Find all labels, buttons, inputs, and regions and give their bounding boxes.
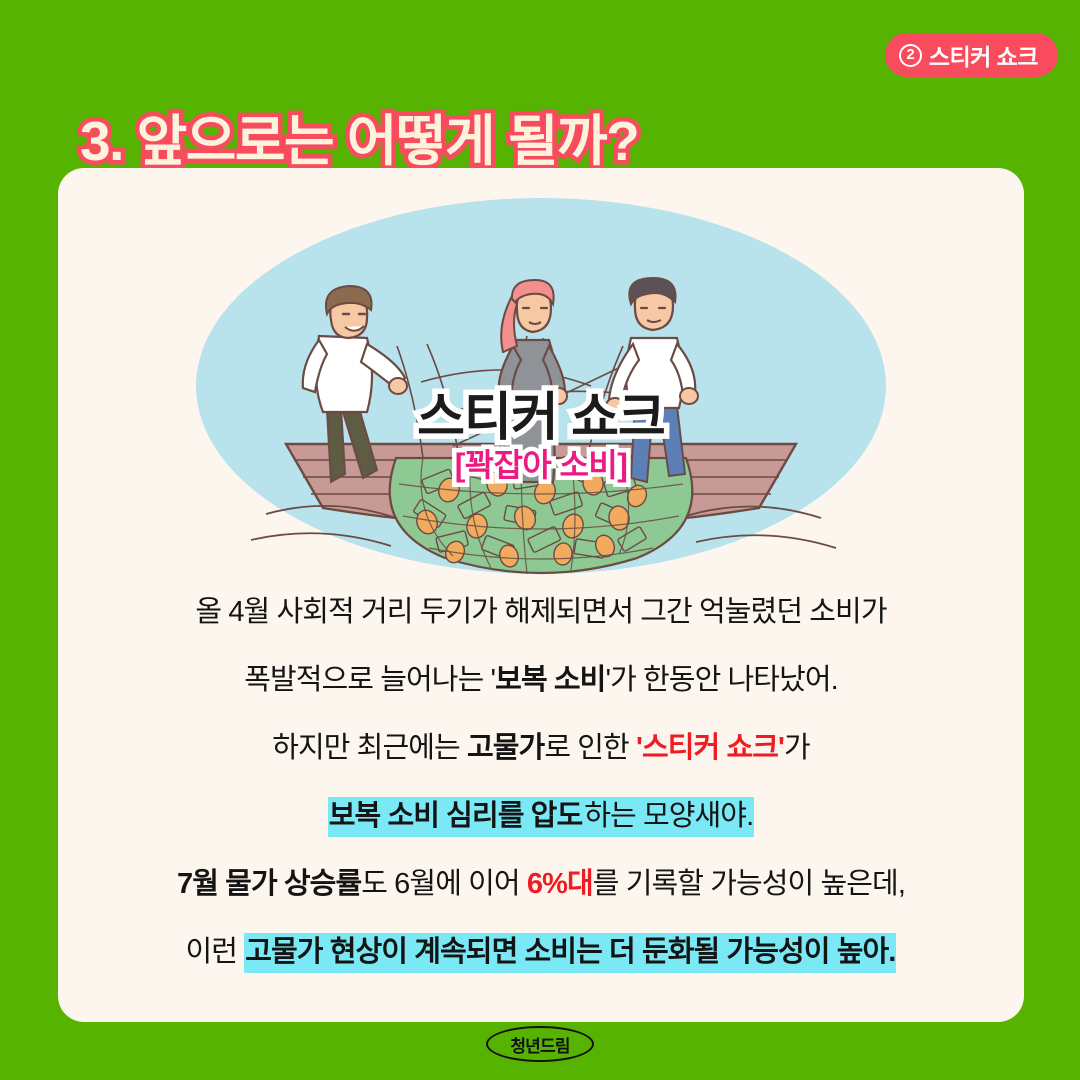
body-line-2: 폭발적으로 늘어나는 '보복 소비'가 한동안 나타났어. — [58, 666, 1024, 695]
body-line-6-emphasis: 고물가 현상이 계속되면 소비는 더 둔화될 가능성이 높아. — [244, 933, 896, 973]
body-line-2-seg-1: 폭발적으로 늘어나는 ' — [244, 664, 495, 696]
body-copy: 올 4월 사회적 거리 두기가 해제되면서 그간 억눌렸던 소비가 폭발적으로 … — [58, 598, 1024, 967]
body-line-3-keyword: '스티커 쇼크' — [636, 732, 784, 764]
infographic-card: 2 스티커 쇼크 3. 앞으로는 어떻게 될까? — [0, 0, 1080, 1080]
body-line-3: 하지만 최근에는 고물가로 인한 '스티커 쇼크'가 — [58, 734, 1024, 763]
footer-logo-text: 청년드림 — [510, 1032, 569, 1057]
illustration: 스티커 쇼크 [꽉잡아 소비] — [58, 196, 1024, 576]
body-line-1-text: 올 4월 사회적 거리 두기가 해제되면서 그간 억눌렸던 소비가 — [195, 596, 886, 628]
body-line-5-emphasis: 7월 물가 상승률 — [177, 868, 361, 900]
body-line-6-seg-1: 이런 — [186, 936, 245, 968]
body-line-4-emphasis: 보복 소비 심리를 압도 — [328, 797, 584, 837]
section-badge: 2 스티커 쇼크 — [885, 33, 1058, 77]
body-line-4: 보복 소비 심리를 압도하는 모양새야. — [58, 802, 1024, 831]
badge-number: 2 — [899, 44, 922, 67]
page-title: 3. 앞으로는 어떻게 될까? — [80, 96, 638, 176]
body-line-5: 7월 물가 상승률도 6월에 이어 6%대를 기록할 가능성이 높은데, — [58, 870, 1024, 899]
body-line-2-seg-3: '가 한동안 나타났어. — [605, 664, 837, 696]
body-line-3-emphasis: 고물가 — [467, 732, 544, 764]
body-line-1: 올 4월 사회적 거리 두기가 해제되면서 그간 억눌렸던 소비가 — [58, 598, 1024, 627]
body-line-5-figure: 6%대 — [527, 868, 593, 900]
badge-label: 스티커 쇼크 — [929, 38, 1038, 72]
body-line-3-seg-5: 가 — [784, 732, 810, 764]
body-line-6: 이런 고물가 현상이 계속되면 소비는 더 둔화될 가능성이 높아. — [58, 938, 1024, 967]
footer-logo: 청년드림 — [486, 1026, 594, 1062]
body-line-3-seg-1: 하지만 최근에는 — [272, 732, 467, 764]
body-line-3-seg-3: 로 인한 — [544, 732, 636, 764]
body-line-2-emphasis: 보복 소비 — [495, 664, 605, 696]
body-line-4-seg-2: 하는 모양새야. — [583, 797, 754, 837]
illustration-svg — [191, 196, 891, 576]
content-panel: 스티커 쇼크 [꽉잡아 소비] 올 4월 사회적 거리 두기가 해제되면서 그간… — [58, 168, 1024, 1022]
body-line-5-seg-4: 를 기록할 가능성이 높은데, — [593, 868, 905, 900]
body-line-5-seg-2: 도 6월에 이어 — [361, 868, 527, 900]
